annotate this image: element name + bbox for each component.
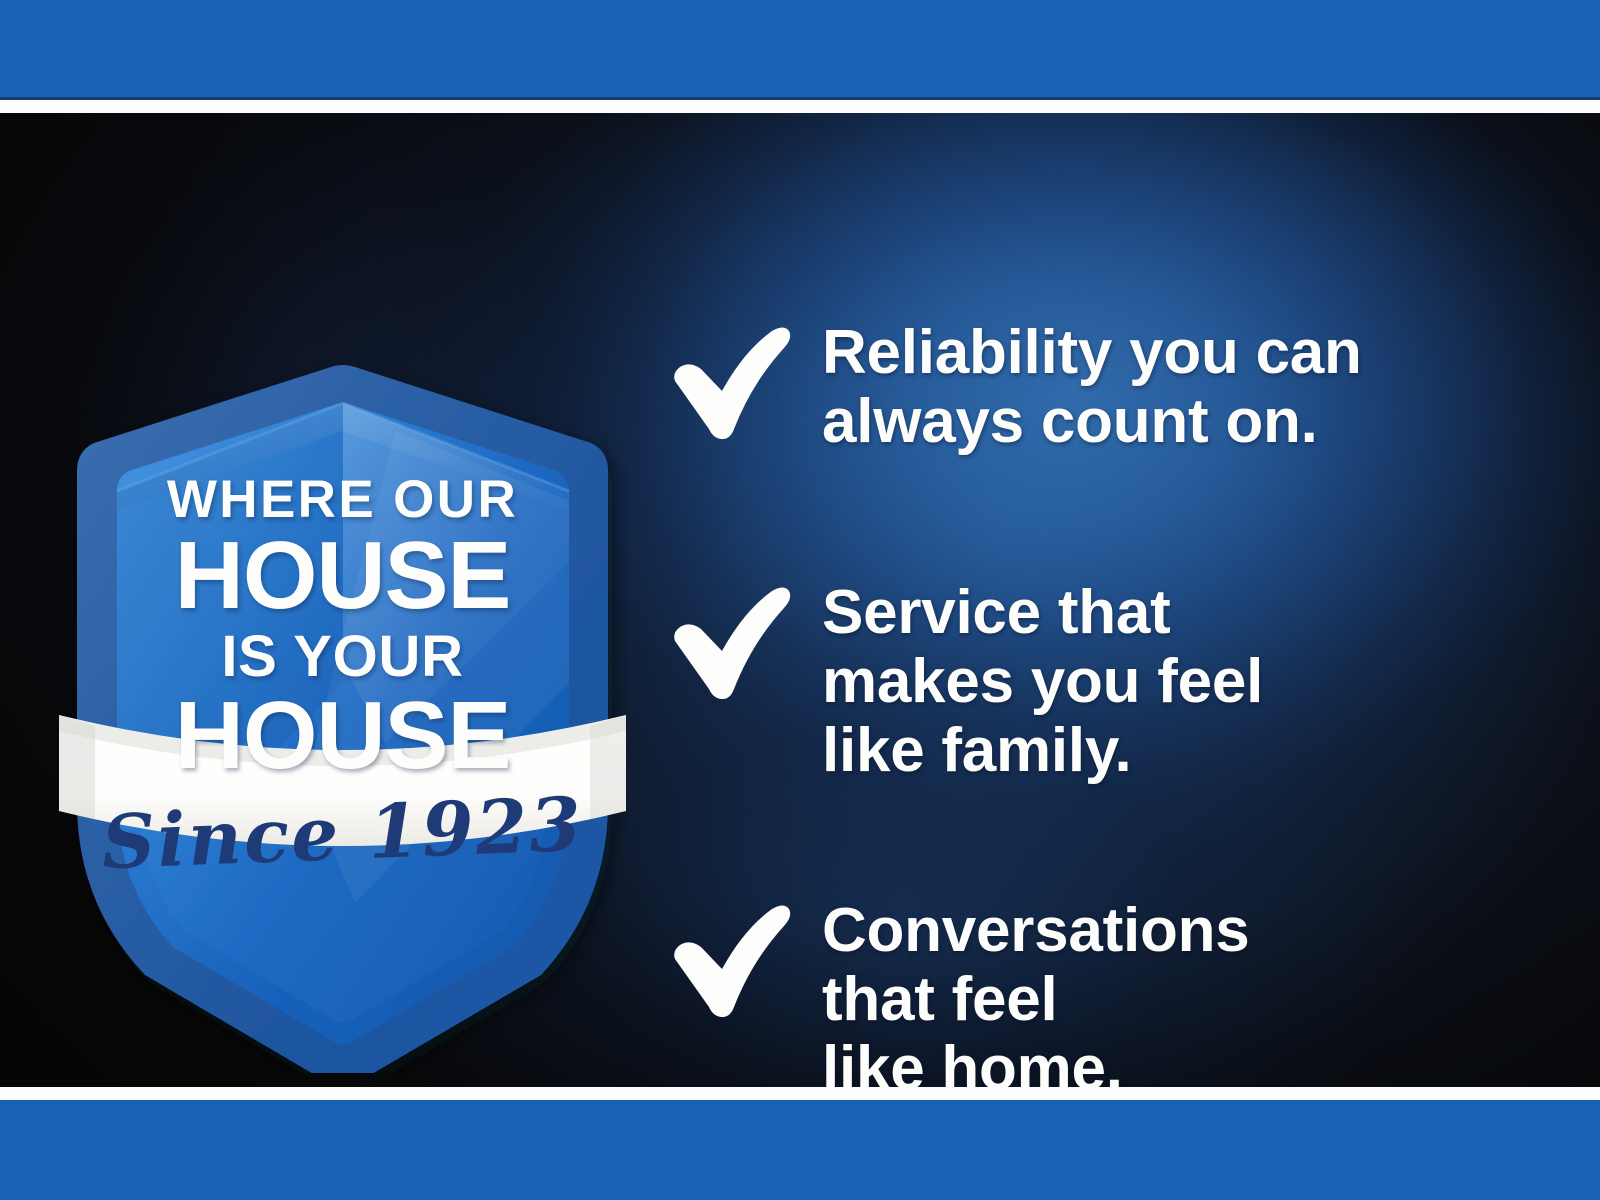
benefit-line: Conversations <box>822 897 1249 966</box>
main-stage: WHERE OUR HOUSE IS YOUR HOUSE Since 1923… <box>0 113 1600 1087</box>
benefit-line: makes you feel <box>822 648 1263 717</box>
company-logo: WHERE OUR HOUSE IS YOUR HOUSE Since 1923 <box>55 263 630 1073</box>
benefit-item-service: Service that makes you feel like family. <box>668 575 1263 785</box>
bottom-white-gap <box>0 1087 1600 1100</box>
checkmark-icon <box>668 581 796 707</box>
benefit-line: Reliability you can <box>822 319 1362 388</box>
benefit-line: like family. <box>822 717 1263 786</box>
benefit-text-reliability: Reliability you can always count on. <box>822 315 1362 457</box>
top-brand-band <box>0 0 1600 100</box>
benefit-item-conversations: Conversations that feel like home. <box>668 893 1249 1087</box>
bottom-brand-band <box>0 1100 1600 1200</box>
benefit-text-conversations: Conversations that feel like home. <box>822 893 1249 1087</box>
benefit-text-service: Service that makes you feel like family. <box>822 575 1263 785</box>
checkmark-icon <box>668 899 796 1025</box>
benefit-line: Service that <box>822 579 1263 648</box>
benefit-item-reliability: Reliability you can always count on. <box>668 315 1362 457</box>
checkmark-icon <box>668 321 796 447</box>
benefit-line: like home. <box>822 1035 1249 1087</box>
benefit-line: always count on. <box>822 388 1362 457</box>
promo-graphic: WHERE OUR HOUSE IS YOUR HOUSE Since 1923… <box>0 0 1600 1200</box>
top-white-gap <box>0 100 1600 113</box>
benefit-line: that feel <box>822 966 1249 1035</box>
